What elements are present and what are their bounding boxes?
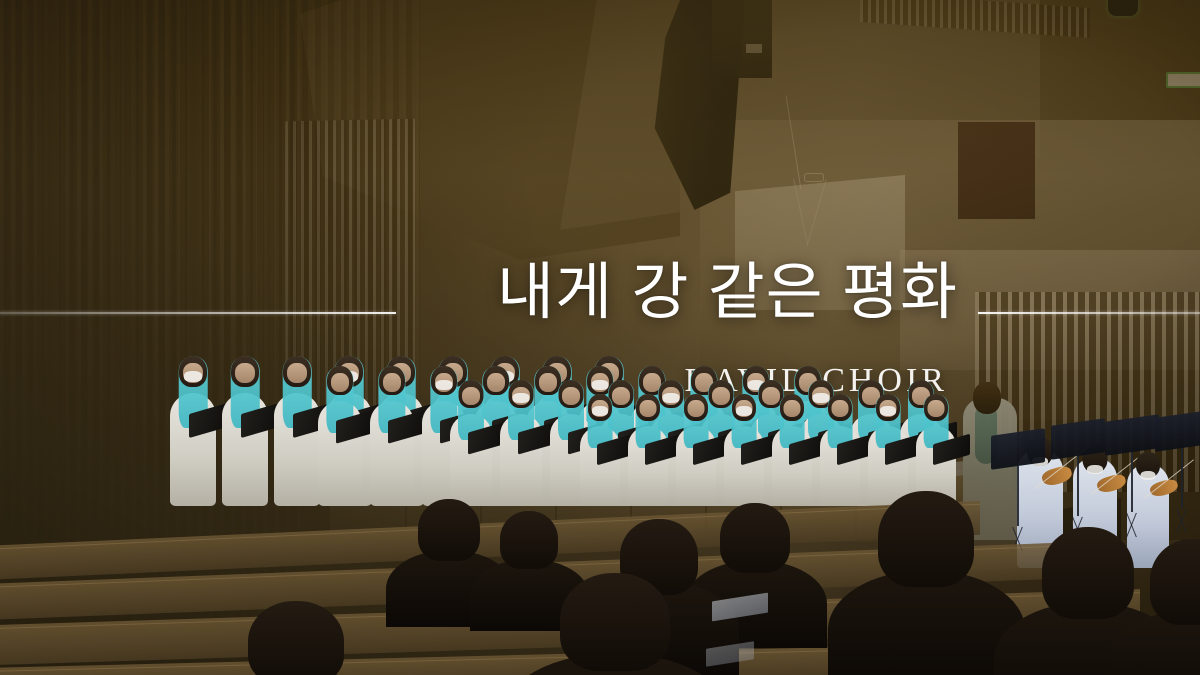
audience-head — [560, 573, 670, 671]
singer-face — [235, 363, 255, 383]
audience-head — [720, 503, 790, 573]
slide-canvas: 내게 강 같은 평화 DAVID CHOIR — [0, 0, 1200, 675]
singer-face — [331, 373, 349, 392]
singer-face — [832, 400, 849, 417]
music-stand — [1105, 418, 1159, 538]
choir-singer — [370, 366, 414, 506]
choir-singer — [820, 394, 860, 506]
singer-face — [784, 400, 801, 417]
slide-title: 내게 강 같은 평화 — [0, 262, 958, 324]
choir-singer — [628, 394, 668, 506]
singer-face — [462, 387, 480, 405]
choir-singer — [772, 394, 812, 506]
divider-rule-right — [978, 312, 1200, 314]
singer-mask — [184, 371, 202, 382]
choir-singer — [274, 356, 320, 506]
singer-face — [383, 373, 401, 392]
audience-head — [1042, 527, 1134, 619]
choir-singer — [318, 366, 362, 506]
choir-singer — [580, 394, 620, 506]
choir-singer — [222, 356, 268, 506]
audience-head — [418, 499, 480, 561]
singer-mask — [736, 406, 752, 416]
audience-head — [878, 491, 974, 587]
singer-face — [640, 400, 657, 417]
music-stand — [991, 432, 1045, 552]
choir-singer — [724, 394, 764, 506]
choir-singer — [868, 394, 908, 506]
choir-singer — [916, 394, 956, 506]
music-stand-pole — [1077, 456, 1079, 516]
music-stand-pole — [1181, 448, 1183, 508]
audience-head — [500, 511, 558, 569]
singer-face — [928, 400, 945, 417]
music-stand-plate — [991, 428, 1045, 470]
singer-mask — [513, 393, 530, 403]
singer-face — [562, 387, 580, 405]
choir-singer — [500, 380, 542, 506]
music-stand-plate — [1105, 414, 1159, 456]
singer-face — [287, 363, 307, 383]
choir-singer — [676, 394, 716, 506]
choir-singer — [170, 356, 216, 506]
music-stand-plate — [1051, 418, 1105, 460]
choir-singer — [450, 380, 492, 506]
music-stand — [1051, 422, 1105, 542]
singer-mask — [592, 406, 608, 416]
music-stand-pole — [1017, 466, 1019, 526]
singer-mask — [880, 406, 896, 416]
singer-face — [688, 400, 705, 417]
audience-head — [248, 601, 344, 675]
music-stand-plate — [1155, 410, 1200, 452]
music-stand-pole — [1131, 452, 1133, 512]
music-stand — [1155, 414, 1200, 534]
